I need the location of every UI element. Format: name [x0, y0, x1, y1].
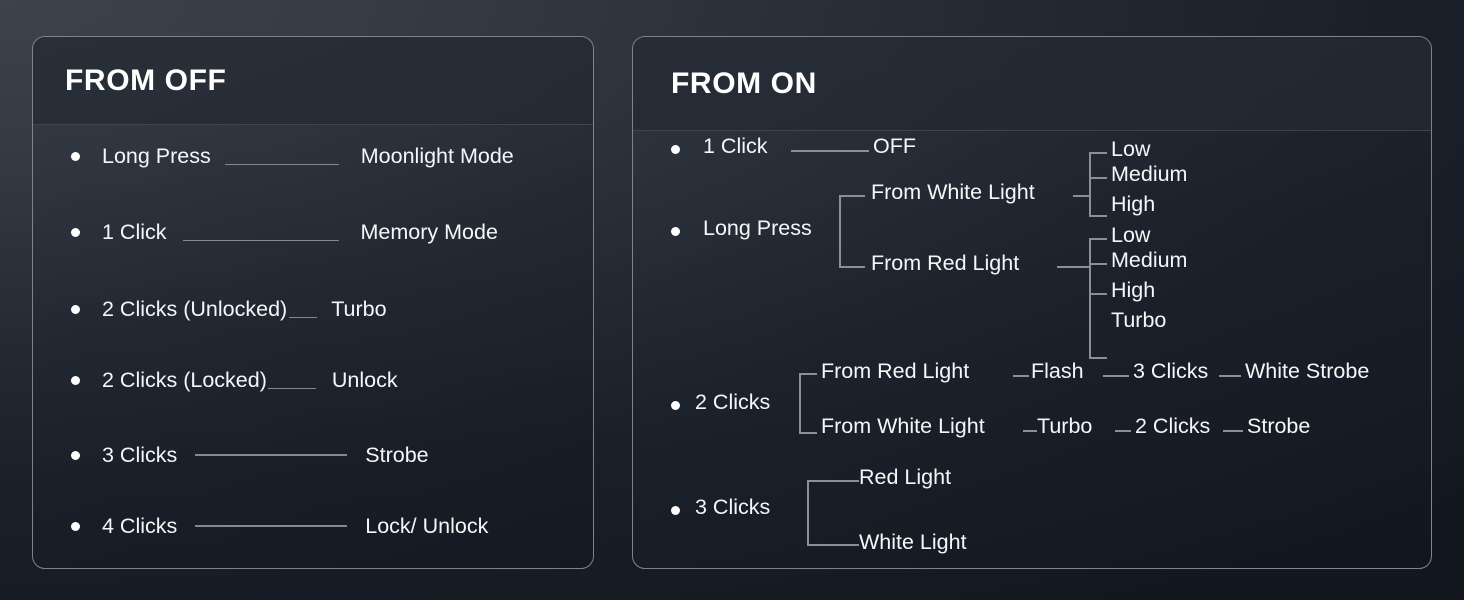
- trigger-label: 2 Clicks (Unlocked): [102, 297, 287, 322]
- trigger-label: Long Press: [703, 216, 812, 241]
- bullet-icon: [71, 451, 80, 460]
- trigger-label: 3 Clicks: [695, 495, 770, 520]
- trigger-label: 2 Clicks: [695, 390, 770, 415]
- trigger-label: 1 Click: [102, 220, 167, 245]
- tree-spine: [799, 373, 801, 433]
- connector-line: [225, 164, 339, 166]
- chain-step: From White Light: [821, 414, 985, 439]
- connector-line: [807, 544, 859, 546]
- connector-line: [1089, 293, 1107, 295]
- list-item: 3 Clicks Strobe: [33, 440, 593, 470]
- chain-step: Flash: [1031, 359, 1084, 384]
- connector-line: [183, 240, 339, 242]
- connector-line: [839, 195, 865, 197]
- panel-from-off: FROM OFF Long Press Moonlight Mode 1 Cli…: [32, 36, 594, 569]
- connector-line: [1057, 266, 1089, 268]
- connector-line: [799, 432, 817, 434]
- panel-from-off-header: FROM OFF: [33, 37, 593, 125]
- connector-line: [195, 525, 347, 527]
- chain-step: From Red Light: [821, 359, 969, 384]
- tree-spine: [807, 480, 809, 545]
- option-label: White Light: [859, 530, 967, 555]
- bullet-icon: [71, 376, 80, 385]
- panel-from-on-body: 1 Click OFF Long Press From White Light …: [633, 131, 1431, 569]
- bullet-icon: [671, 401, 680, 410]
- bullet-icon: [671, 145, 680, 154]
- connector-line: [1223, 430, 1243, 432]
- bullet-icon: [71, 152, 80, 161]
- level-label: High: [1111, 278, 1155, 303]
- result-label: Memory Mode: [361, 220, 498, 245]
- connector-line: [1089, 177, 1107, 179]
- chain-step: Strobe: [1247, 414, 1310, 439]
- connector-line: [268, 388, 316, 390]
- tree-spine: [839, 195, 841, 267]
- connector-line: [807, 480, 859, 482]
- option-label: Red Light: [859, 465, 951, 490]
- branch-label: From Red Light: [871, 251, 1019, 276]
- connector-line: [1089, 357, 1107, 359]
- chain-step: White Strobe: [1245, 359, 1369, 384]
- result-label: Strobe: [365, 443, 428, 468]
- connector-line: [1089, 263, 1107, 265]
- panel-from-on-title: FROM ON: [633, 67, 817, 101]
- connector-line: [1103, 375, 1129, 377]
- connector-line: [1089, 238, 1107, 240]
- connector-line: [839, 266, 865, 268]
- panel-from-off-title: FROM OFF: [33, 64, 226, 98]
- chain-step: 3 Clicks: [1133, 359, 1208, 384]
- connector-line: [1219, 375, 1241, 377]
- bullet-icon: [671, 227, 680, 236]
- list-item: 2 Clicks (Locked) Unlock: [33, 365, 593, 395]
- connector-line: [1089, 152, 1107, 154]
- connector-line: [1023, 430, 1037, 432]
- level-label: Medium: [1111, 248, 1187, 273]
- tree-spine: [1089, 238, 1091, 358]
- chain-step: Turbo: [1037, 414, 1092, 439]
- connector-line: [289, 317, 317, 319]
- list-item: 2 Clicks (Unlocked) Turbo: [33, 294, 593, 324]
- trigger-label: 1 Click: [703, 134, 768, 159]
- level-label: Medium: [1111, 162, 1187, 187]
- result-label: Moonlight Mode: [361, 144, 514, 169]
- result-label: Unlock: [332, 368, 398, 393]
- diagram-stage: FROM OFF Long Press Moonlight Mode 1 Cli…: [0, 0, 1464, 600]
- bullet-icon: [71, 228, 80, 237]
- connector-line: [195, 454, 347, 456]
- level-label: Turbo: [1111, 308, 1166, 333]
- trigger-label: 2 Clicks (Locked): [102, 368, 267, 393]
- connector-line: [1013, 375, 1029, 377]
- bullet-icon: [71, 522, 80, 531]
- connector-line: [1089, 215, 1107, 217]
- connector-line: [799, 373, 817, 375]
- trigger-label: 3 Clicks: [102, 443, 177, 468]
- level-label: Low: [1111, 223, 1150, 248]
- branch-label: From White Light: [871, 180, 1035, 205]
- tree-spine: [1089, 152, 1091, 216]
- result-label: Turbo: [331, 297, 386, 322]
- list-item: 1 Click Memory Mode: [33, 217, 593, 247]
- list-item: Long Press Moonlight Mode: [33, 141, 593, 171]
- panel-from-on-header: FROM ON: [633, 37, 1431, 131]
- bullet-icon: [671, 506, 680, 515]
- bullet-icon: [71, 305, 80, 314]
- connector-line: [791, 150, 869, 152]
- trigger-label: 4 Clicks: [102, 514, 177, 539]
- chain-step: 2 Clicks: [1135, 414, 1210, 439]
- result-label: OFF: [873, 134, 916, 159]
- result-label: Lock/ Unlock: [365, 514, 488, 539]
- level-label: High: [1111, 192, 1155, 217]
- panel-from-off-body: Long Press Moonlight Mode 1 Click Memory…: [33, 125, 593, 569]
- panel-from-on: FROM ON 1 Click OFF Long Press From Whit…: [632, 36, 1432, 569]
- connector-line: [1115, 430, 1131, 432]
- trigger-label: Long Press: [102, 144, 211, 169]
- list-item: 4 Clicks Lock/ Unlock: [33, 511, 593, 541]
- level-label: Low: [1111, 137, 1150, 162]
